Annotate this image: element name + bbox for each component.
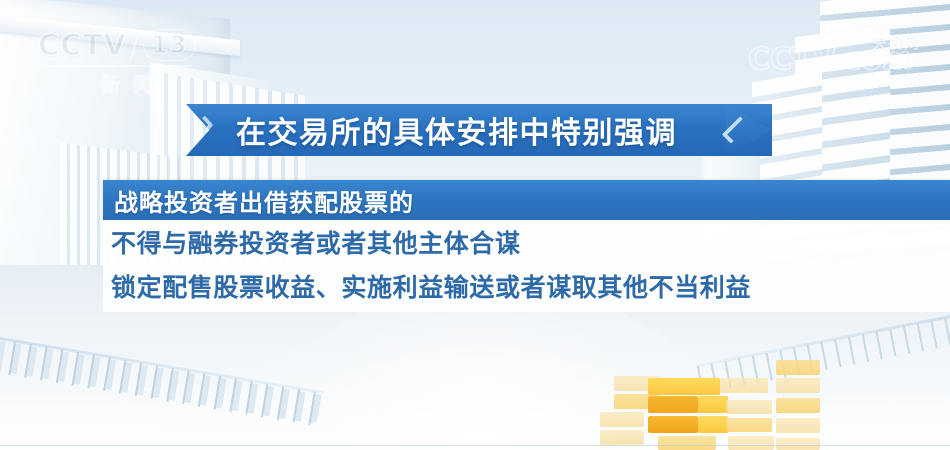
gold-bar	[728, 436, 774, 450]
gold-bar	[600, 430, 644, 445]
gold-bar	[648, 378, 720, 395]
gold-bar	[658, 436, 716, 450]
subheadline-banner: 战略投资者出借获配股票的	[103, 180, 950, 220]
gold-bar	[776, 398, 820, 413]
subheadline-text: 战略投资者出借获配股票的	[114, 183, 414, 218]
frame-bottom-rule	[0, 445, 950, 446]
gold-bar	[726, 418, 772, 432]
gold-bar	[698, 416, 728, 433]
headline-banner: 在交易所的具体安排中特别强调	[186, 104, 772, 156]
gold-bar	[776, 418, 820, 433]
body-line-1: 不得与融券投资者或者其他主体合谋	[111, 220, 950, 266]
broadcast-frame: CCTV 13 新闻 CCTV.com 央视网 在交易所的具体安排中特别强调 战…	[0, 0, 950, 450]
gold-bars-graphic	[600, 360, 830, 450]
chevron-right-icon	[722, 116, 750, 144]
gold-bar	[776, 360, 820, 375]
body-text-panel: 不得与融券投资者或者其他主体合谋 锁定配售股票收益、实施利益输送或者谋取其他不当…	[103, 220, 950, 312]
headline-text: 在交易所的具体安排中特别强调	[236, 108, 677, 152]
gold-bar	[776, 438, 820, 450]
gold-bar	[648, 396, 698, 413]
gold-bar	[600, 412, 644, 427]
gold-bar	[726, 400, 772, 414]
body-line-2: 锁定配售股票收益、实施利益输送或者谋取其他不当利益	[111, 266, 950, 310]
gold-bar	[776, 378, 820, 393]
gold-bar	[698, 396, 728, 413]
gold-bar	[720, 378, 768, 393]
gold-bar	[648, 416, 698, 433]
